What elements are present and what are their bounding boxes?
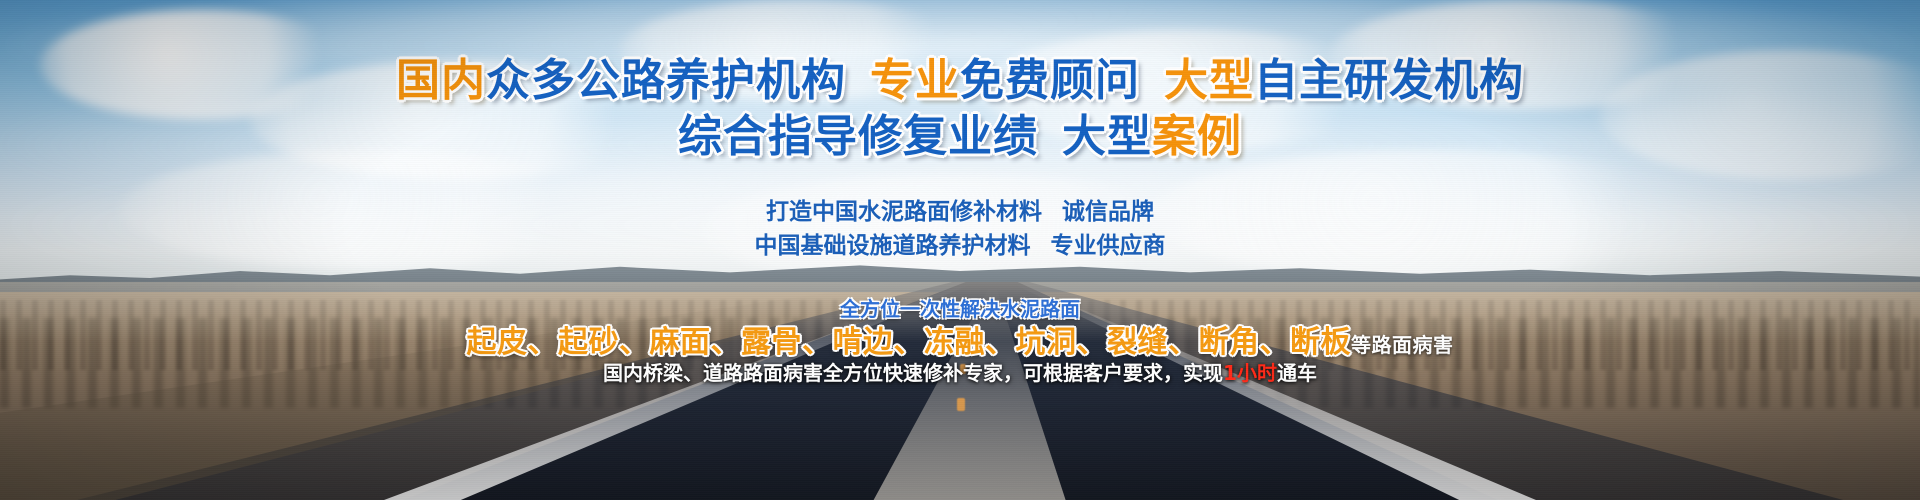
bottom-text: 国内桥梁、道路路面病害全方位快速修补专家，可根据客户要求，实现 [603,361,1223,385]
bottom-text: 通车 [1277,361,1317,385]
headline-segment: 自主研发机构 [1254,55,1524,106]
headline-segment: 综合指导修复业绩 [678,111,1038,162]
defect-list: 起皮、起砂、麻面、露骨、啃边、冻融、坑洞、裂缝、断角、断板 [467,325,1352,360]
headline-segment: 大型 [1164,55,1254,106]
subheading-text: 中国基础设施道路养护材料 [755,233,1031,259]
highlight-duration: 1小时 [1223,361,1277,385]
bottom-line-3: 国内桥梁、道路路面病害全方位快速修补专家，可根据客户要求，实现1小时通车 [0,357,1920,386]
subheading-text: 打造中国水泥路面修补材料 [766,199,1042,225]
headline-line-1: 国内众多公路养护机构专业免费顾问大型自主研发机构 [0,44,1920,108]
headline-segment: 案例 [1152,111,1242,162]
headline-segment: 众多公路养护机构 [486,55,846,106]
promo-banner: 国内众多公路养护机构专业免费顾问大型自主研发机构 综合指导修复业绩大型案例 打造… [0,0,1920,500]
subheading-text: 专业供应商 [1051,233,1166,259]
headline-segment: 专业 [870,55,960,106]
bottom-line-2: 起皮、起砂、麻面、露骨、啃边、冻融、坑洞、裂缝、断角、断板等路面病害 [0,317,1920,361]
headline-segment: 大型 [1062,111,1152,162]
subheading-line-1: 打造中国水泥路面修补材料诚信品牌 [0,192,1920,226]
headline-segment: 免费顾问 [960,55,1140,106]
defect-list-tail: 等路面病害 [1351,333,1454,357]
road-dash-marker [957,398,965,411]
headline-segment: 国内 [396,55,486,106]
headline-line-2: 综合指导修复业绩大型案例 [0,100,1920,164]
subheading-line-2: 中国基础设施道路养护材料专业供应商 [0,226,1920,260]
subheading-text: 诚信品牌 [1062,199,1154,225]
